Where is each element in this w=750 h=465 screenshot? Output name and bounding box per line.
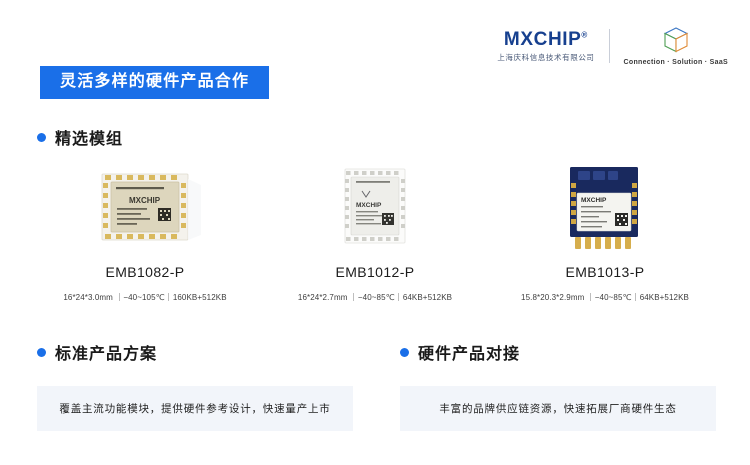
registered-mark: ® xyxy=(581,30,588,39)
brand-tagline: Connection · Solution · SaaS xyxy=(624,59,728,66)
header-divider xyxy=(609,29,610,63)
product-name: EMB1082-P xyxy=(105,264,184,280)
emb1013-p-module-photo: MXCHIP xyxy=(545,160,665,252)
mxchip-logo: MXCHIP® 上海庆科信息技术有限公司 xyxy=(497,30,594,63)
section-heading-label: 标准产品方案 xyxy=(55,340,157,364)
product-card[interactable]: MXCHIP EMB1012-P 16*24*2.7mm ｜−40~85℃｜64… xyxy=(260,160,490,303)
brand-header: MXCHIP® 上海庆科信息技术有限公司 Connection · Soluti… xyxy=(497,26,728,66)
svg-text:MXCHIP: MXCHIP xyxy=(356,202,382,209)
dot-bullet-icon xyxy=(37,133,46,142)
cube-icon xyxy=(662,26,690,54)
product-spec: 15.8*20.3*2.9mm ｜−40~85℃｜64KB+512KB xyxy=(521,292,689,303)
info-box: 覆盖主流功能模块，提供硬件参考设计，快速量产上市 xyxy=(37,386,353,431)
bottom-section-hardware-integration: 硬件产品对接 丰富的品牌供应链资源，快速拓展厂商硬件生态 xyxy=(354,340,717,431)
svg-text:MXCHIP: MXCHIP xyxy=(129,196,161,205)
bottom-section-standard-products: 标准产品方案 覆盖主流功能模块，提供硬件参考设计，快速量产上市 xyxy=(37,340,354,431)
tagline-block: Connection · Solution · SaaS xyxy=(624,26,728,66)
section-heading-label: 硬件产品对接 xyxy=(418,340,520,364)
brand-wordmark: MXCHIP® xyxy=(504,30,588,49)
product-spec: 16*24*2.7mm ｜−40~85℃｜64KB+512KB xyxy=(298,292,452,303)
slide-title-banner: 灵活多样的硬件产品合作 xyxy=(40,66,269,99)
section-heading-standard-products: 标准产品方案 xyxy=(37,340,354,364)
section-heading-label: 精选模组 xyxy=(55,125,123,149)
dot-bullet-icon xyxy=(400,348,409,357)
product-name: EMB1012-P xyxy=(335,264,414,280)
brand-wordmark-text: MXCHIP xyxy=(504,29,582,50)
product-spec: 16*24*3.0mm ｜−40~105℃｜160KB+512KB xyxy=(63,292,226,303)
svg-text:MXCHIP: MXCHIP xyxy=(581,197,607,204)
info-box: 丰富的品牌供应链资源，快速拓展厂商硬件生态 xyxy=(400,386,716,431)
product-card[interactable]: MXCHIP EMB1082-P 16*24*3.0mm ｜−40~105℃｜1… xyxy=(30,160,260,303)
product-card[interactable]: MXCHIP EMB1013-P 15.8*20.3*2.9mm ｜−40~85… xyxy=(490,160,720,303)
emb1082-p-module-photo: MXCHIP xyxy=(85,160,205,252)
emb1012-p-module-photo: MXCHIP xyxy=(320,160,430,252)
brand-company-name-cn: 上海庆科信息技术有限公司 xyxy=(497,52,594,63)
section-heading-modules: 精选模组 xyxy=(37,125,123,149)
section-heading-hardware-integration: 硬件产品对接 xyxy=(400,340,717,364)
bottom-sections: 标准产品方案 覆盖主流功能模块，提供硬件参考设计，快速量产上市 硬件产品对接 丰… xyxy=(37,340,717,431)
dot-bullet-icon xyxy=(37,348,46,357)
product-row: MXCHIP EMB1082-P 16*24*3.0mm ｜−40~105℃｜1… xyxy=(30,160,720,303)
product-name: EMB1013-P xyxy=(565,264,644,280)
